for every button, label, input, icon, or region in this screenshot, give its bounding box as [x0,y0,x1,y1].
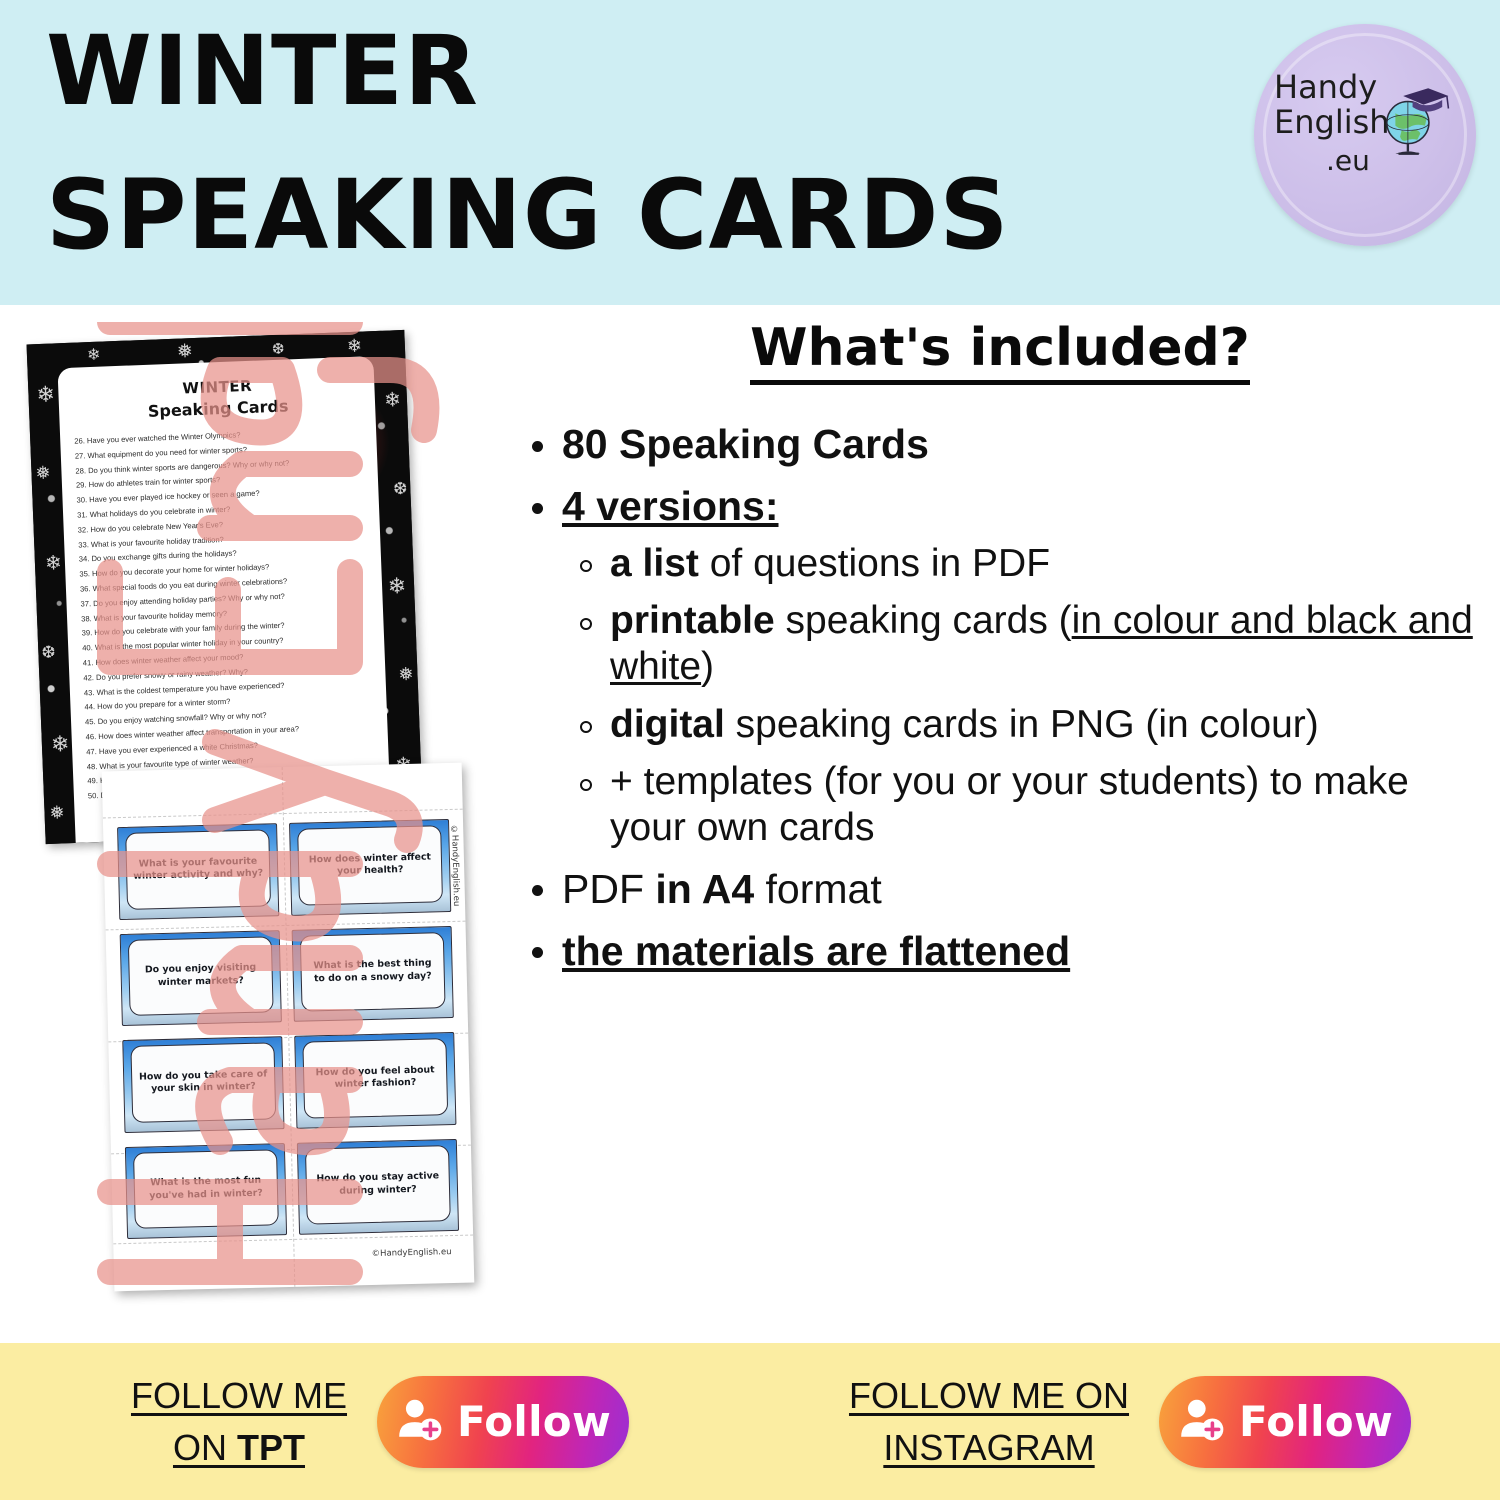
follow-tpt-button[interactable]: Follow [377,1376,629,1468]
speaking-card-text: How do you take care of your skin in win… [137,1068,270,1096]
snowflake-icon: ❄ [387,575,406,598]
snowflake-icon: ❆ [272,342,285,357]
logo-line-3: .eu [1326,144,1370,177]
list-questions: 26. Have you ever watched the Winter Oly… [74,424,378,805]
globe-graduation-cap-icon [1372,82,1450,160]
snowflake-icon: ❆ [393,480,408,498]
speaking-card: How do you stay active during winter? [297,1138,459,1234]
content-panel: What's included? 80 Speaking Cards4 vers… [510,312,1490,1332]
brand-logo: Handy English .eu [1254,24,1476,246]
follow-instagram-label-line-2: INSTAGRAM [849,1422,1129,1473]
speaking-card-text: What is the most fun you've had in winte… [140,1175,273,1203]
content-heading-text: What's included? [750,318,1250,385]
follow-tpt-label: FOLLOW ME ON TPT [131,1370,347,1472]
speaking-card-text: How do you stay active during winter? [312,1171,445,1199]
text-segment: ) [701,645,714,688]
text-segment: in A4 [655,866,754,912]
footer-instagram-section: FOLLOW ME ON INSTAGRAM Follow [760,1343,1500,1500]
speaking-card: What is the most fun you've had in winte… [125,1143,287,1239]
snowflake-icon: ❅ [35,464,51,483]
speaking-card: Do you enjoy visiting winter markets? [120,930,282,1026]
included-list-item: PDF in A4 format [510,865,1490,913]
sub-bullet-circle [580,721,592,733]
included-list-item: 80 Speaking Cards [510,420,1490,468]
speaking-card: What is your favourite winter activity a… [117,823,279,919]
cards-credit: ©HandyEnglish.eu [372,1247,452,1259]
bullet-dot [532,503,543,514]
snowflake-icon: ❅ [49,803,65,822]
title-line-1: WINTER [46,24,1026,118]
included-sublist-item: a list of questions in PDF [562,541,1490,587]
included-list-item: the materials are flattened [510,927,1490,975]
speaking-card-text: How do you feel about winter fashion? [309,1064,442,1092]
speaking-card-inner: How does winter affect your health? [297,825,443,905]
speaking-card-inner: What is the best thing to do on a snowy … [300,932,446,1012]
speaking-card-inner: What is the most fun you've had in winte… [133,1149,279,1229]
bullet-dot [532,947,543,958]
bullet-dot [532,885,543,896]
included-sublist: a list of questions in PDFprintable spea… [562,541,1490,851]
person-add-icon [395,1394,445,1449]
preview-cards-page: What is your favourite winter activity a… [102,763,475,1292]
snowflake-icon: ❄ [45,553,63,574]
speaking-card-inner: How do you feel about winter fashion? [302,1038,448,1118]
included-sublist-item: digital speaking cards in PNG (in colour… [562,702,1490,748]
follow-instagram-label: FOLLOW ME ON INSTAGRAM [849,1370,1129,1472]
speaking-card: How do you feel about winter fashion? [294,1032,456,1128]
text-segment: of questions in PDF [699,542,1050,585]
text-segment: a list [610,542,699,585]
text-segment: printable [610,599,775,642]
speaking-card-inner: What is your favourite winter activity a… [125,829,271,909]
speaking-card-inner: How do you stay active during winter? [305,1145,451,1225]
snowflake-icon: ❄ [87,348,101,365]
included-sublist-item: + templates (for you or your students) t… [562,759,1490,850]
text-segment: speaking cards ( [775,599,1072,642]
speaking-card-text: What is your favourite winter activity a… [132,855,265,883]
speaking-card: How do you take care of your skin in win… [122,1036,284,1132]
follow-instagram-button-label: Follow [1239,1397,1393,1446]
included-list-item: 4 versions:a list of questions in PDFpri… [510,482,1490,850]
header-band: WINTER SPEAKING CARDS Handy English .eu [0,0,1500,305]
speaking-card: How does winter affect your health? [289,819,451,915]
snowflake-icon: ❄ [36,383,55,406]
included-list: 80 Speaking Cards4 versions:a list of qu… [510,420,1490,975]
footer-band: FOLLOW ME ON TPT Follow FOLLOW ME ON INS… [0,1343,1500,1500]
follow-tpt-label-line-2: ON TPT [131,1422,347,1473]
sub-bullet-circle [580,618,592,630]
speaking-card-inner: How do you take care of your skin in win… [130,1042,276,1122]
preview-area: ❄ ❅ ❄ ❆ ❄ ❅ ❄ ❆ ❄ ❅ ❄ ❄ ❅ ❆ ❄ WINTER Spe… [0,312,510,1332]
sub-bullet-circle [580,779,592,791]
sub-bullet-circle [580,560,592,572]
snowflake-icon: ❅ [398,665,414,684]
snowflake-icon: ❄ [384,390,402,411]
text-segment: + templates (for you or your students) t… [610,760,1409,849]
speaking-cards-grid: What is your favourite winter activity a… [117,819,459,1239]
speaking-card-text: How does winter affect your health? [304,851,437,879]
cards-side-credit: ©HandyEnglish.eu [449,825,461,907]
footer-tpt-section: FOLLOW ME ON TPT Follow [0,1343,760,1500]
snowflake-icon: ❄ [51,733,70,756]
text-segment: 80 Speaking Cards [562,421,929,467]
follow-instagram-button[interactable]: Follow [1159,1376,1411,1468]
snowflake-icon: ❄ [346,337,362,356]
bullet-dot [532,441,543,452]
follow-tpt-label-line-1: FOLLOW ME [131,1370,347,1421]
text-segment: the materials are flattened [562,928,1070,974]
included-sublist-item: printable speaking cards (in colour and … [562,598,1490,689]
text-segment: format [754,866,882,912]
follow-instagram-label-line-1: FOLLOW ME ON [849,1370,1129,1421]
snowflake-icon: ❆ [41,644,56,662]
content-heading: What's included? [510,318,1490,382]
speaking-card-inner: Do you enjoy visiting winter markets? [128,936,274,1016]
text-segment: speaking cards in PNG (in colour) [725,703,1319,746]
speaking-card-text: What is the best thing to do on a snowy … [306,958,439,986]
text-segment: PDF [562,866,655,912]
speaking-card: What is the best thing to do on a snowy … [292,925,454,1021]
speaking-card-text: Do you enjoy visiting winter markets? [134,962,267,990]
title-line-2: SPEAKING CARDS [46,168,1026,262]
snowflake-icon: ❅ [177,342,194,362]
text-segment: digital [610,703,725,746]
person-add-icon [1177,1394,1227,1449]
text-segment: 4 versions: [562,483,779,529]
page-title: WINTER SPEAKING CARDS [46,24,1026,262]
list-sheet-title: WINTER Speaking Cards [72,373,363,424]
follow-tpt-button-label: Follow [457,1397,611,1446]
